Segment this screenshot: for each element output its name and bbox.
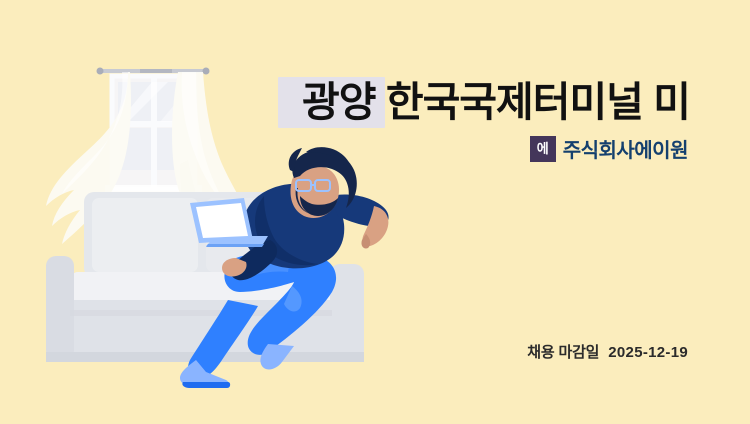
deadline-value: 2025-12-19: [608, 344, 688, 361]
man-on-sofa-with-laptop-illustration: [0, 0, 430, 424]
deadline-label: 채용 마감일: [527, 341, 599, 362]
company-name: 주식회사에이원: [563, 134, 688, 163]
deadline-row: 채용 마감일 2025-12-19: [527, 341, 688, 362]
illustration-area: [0, 0, 430, 424]
job-posting-banner: 광양 한국국제터미널 미 에 주식회사에이원 채용 마감일 2025-12-19: [0, 0, 750, 424]
company-row: 에 주식회사에이원: [530, 134, 688, 163]
company-badge: 에: [530, 136, 556, 162]
